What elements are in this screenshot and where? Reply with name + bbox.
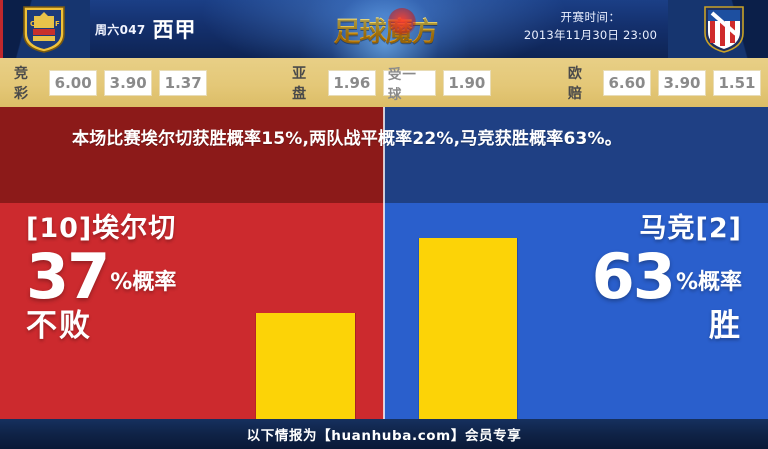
home-team-name: [10]埃尔切 (26, 215, 176, 242)
footer-bar: 以下情报为【huanhuba.com】会员专享 (0, 419, 768, 449)
away-team-crest-icon (700, 4, 748, 54)
kickoff-time: 2013年11月30日 23:00 (503, 27, 678, 45)
away-team-name: 马竞[2] (592, 215, 742, 242)
euro-cell-draw[interactable]: 3.90 (658, 70, 706, 96)
odds-group-label: 亚盘 (292, 63, 321, 103)
away-probability-unit: %概率 (676, 264, 742, 305)
odds-group-label: 竞彩 (14, 63, 42, 103)
away-summary-band (384, 107, 768, 203)
odds-group-oupei: 欧赔 6.60 3.90 1.51 (568, 63, 768, 103)
league-name: 西甲 (153, 14, 197, 44)
home-probability-unit: %概率 (110, 264, 176, 305)
euro-cell-away[interactable]: 1.51 (713, 70, 761, 96)
site-logo-text: 足球魔方 (334, 10, 438, 49)
summary-text: 本场比赛埃尔切获胜概率15%,两队战平概率22%,马竞获胜概率63%。 (72, 126, 712, 152)
svg-text:C: C (30, 20, 35, 28)
header-bar: C F 周六047 西甲 足球魔方 开赛时间： 2013年11月30日 23:0… (0, 0, 768, 58)
odds-bar: 竞彩 6.00 3.90 1.37 亚盘 1.96 受一球 1.90 欧赔 6.… (0, 58, 768, 107)
home-probability-value: 37 (26, 248, 108, 305)
odds-group-jingcai: 竞彩 6.00 3.90 1.37 (14, 63, 214, 103)
round-number: 周六047 (95, 21, 146, 38)
match-meta: 周六047 西甲 (95, 0, 197, 58)
odds-group-yapan: 亚盘 1.96 受一球 1.90 (292, 63, 498, 103)
away-team-block: 马竞[2] 63 %概率 胜 (592, 215, 742, 342)
site-logo[interactable]: 足球魔方 (318, 6, 453, 52)
header-accent-line (0, 0, 3, 58)
away-verdict: 胜 (592, 311, 742, 342)
svg-text:F: F (55, 20, 60, 28)
odds-group-label: 欧赔 (568, 63, 596, 103)
handicap-cell-home[interactable]: 1.96 (328, 70, 376, 96)
odds-cell-away[interactable]: 1.37 (159, 70, 207, 96)
odds-cell-draw[interactable]: 3.90 (104, 70, 152, 96)
footer-text: 以下情报为【huanhuba.com】会员专享 (247, 424, 522, 444)
kickoff-label: 开赛时间： (503, 9, 678, 27)
odds-cell-home[interactable]: 6.00 (49, 70, 97, 96)
probability-panels: 本场比赛埃尔切获胜概率15%,两队战平概率22%,马竞获胜概率63%。 [10]… (0, 107, 768, 419)
panel-divider (383, 107, 385, 419)
away-probability: 63 %概率 (592, 248, 742, 305)
home-summary-band (0, 107, 384, 203)
home-team-crest-icon: C F (20, 4, 68, 54)
home-probability: 37 %概率 (26, 248, 176, 305)
match-probability-graphic: C F 周六047 西甲 足球魔方 开赛时间： 2013年11月30日 23:0… (0, 0, 768, 449)
euro-cell-home[interactable]: 6.60 (603, 70, 651, 96)
away-probability-value: 63 (592, 248, 674, 305)
kickoff-info: 开赛时间： 2013年11月30日 23:00 (503, 9, 678, 45)
handicap-cell-line[interactable]: 受一球 (383, 70, 436, 96)
home-team-block: [10]埃尔切 37 %概率 不败 (26, 215, 176, 342)
home-verdict: 不败 (26, 311, 176, 342)
handicap-cell-away[interactable]: 1.90 (443, 70, 491, 96)
